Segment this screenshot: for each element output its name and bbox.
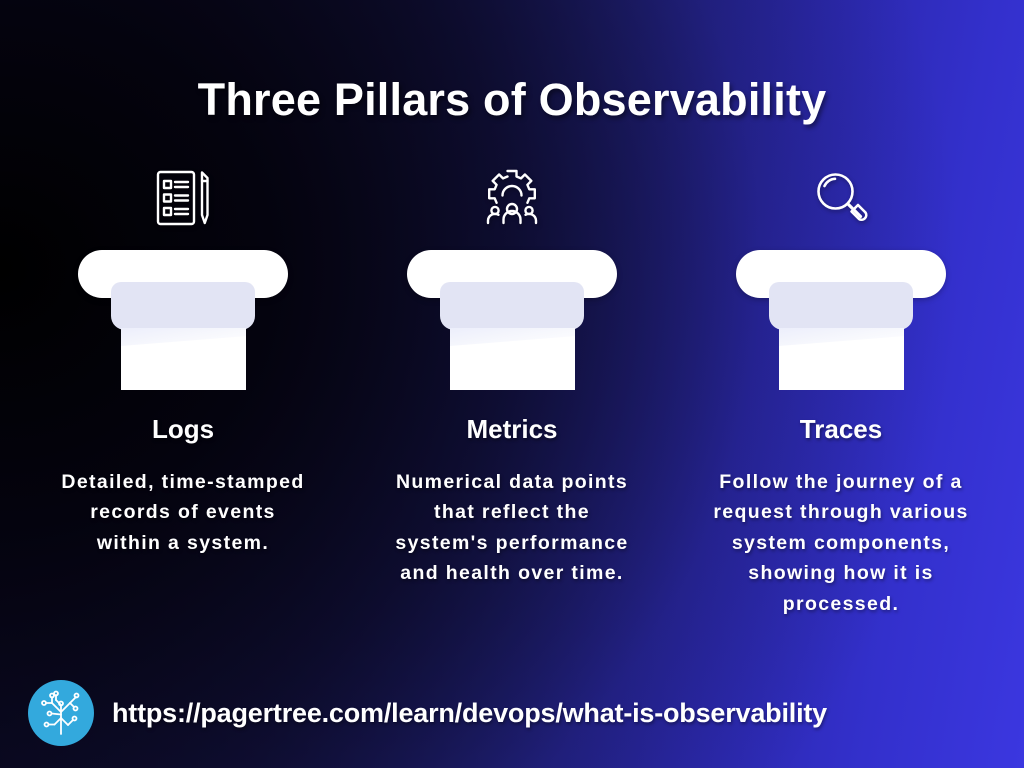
pillars-row: Logs Detailed, time-stamped records of e… [0, 160, 1024, 619]
pillar-echinus [440, 282, 584, 330]
pillar-graphic-logs [78, 250, 288, 390]
pillar-column-logs: Logs Detailed, time-stamped records of e… [28, 160, 338, 619]
pillar-column-traces: Traces Follow the journey of a request t… [686, 160, 996, 619]
pillar-graphic-metrics [407, 250, 617, 390]
pillar-description-logs: Detailed, time-stamped records of events… [59, 467, 307, 558]
magnifying-glass-icon [810, 160, 872, 236]
page-title: Three Pillars of Observability [0, 74, 1024, 126]
pagertree-circuit-tree-logo [28, 680, 94, 746]
pillar-description-traces: Follow the journey of a request through … [696, 467, 986, 619]
footer: https://pagertree.com/learn/devops/what-… [28, 680, 827, 746]
observability-infographic: Three Pillars of Observability [0, 0, 1024, 768]
footer-url[interactable]: https://pagertree.com/learn/devops/what-… [112, 698, 827, 729]
pillar-label-traces: Traces [800, 414, 882, 445]
pillar-echinus [111, 282, 255, 330]
pillar-label-logs: Logs [152, 414, 214, 445]
clipboard-checklist-pencil-icon [152, 160, 214, 236]
pillar-description-metrics: Numerical data points that reflect the s… [386, 467, 638, 589]
pillar-echinus [769, 282, 913, 330]
pillar-graphic-traces [736, 250, 946, 390]
pillar-column-metrics: Metrics Numerical data points that refle… [357, 160, 667, 619]
pillar-label-metrics: Metrics [466, 414, 557, 445]
gear-people-icon [481, 160, 543, 236]
